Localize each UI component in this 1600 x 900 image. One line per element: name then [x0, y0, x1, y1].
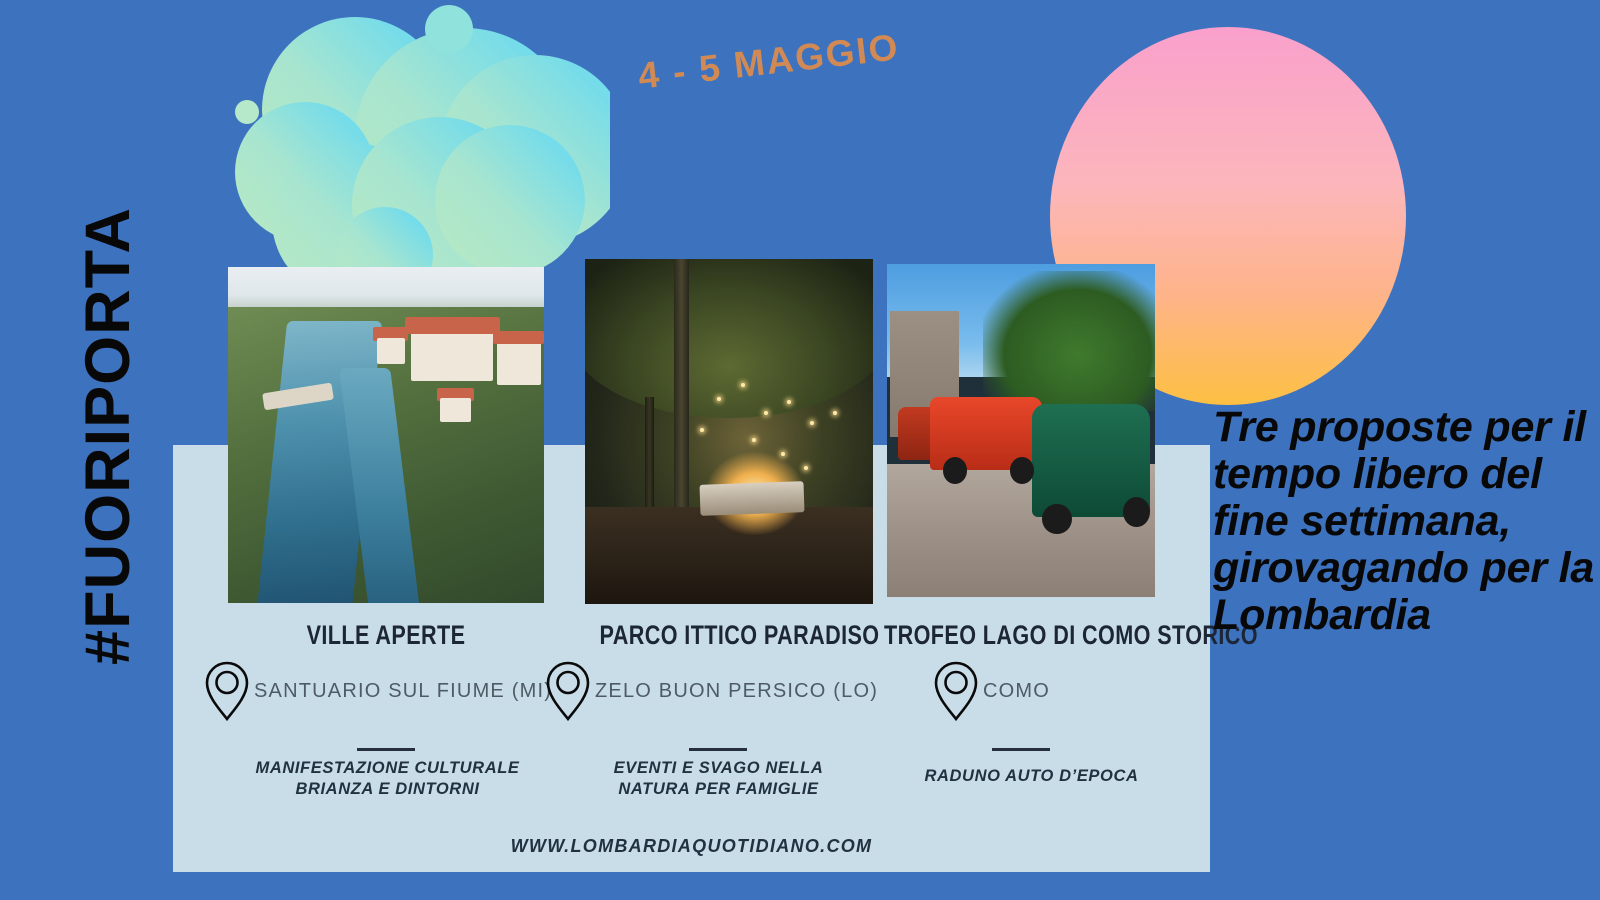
card-divider [992, 748, 1050, 751]
blob-decoration [210, 0, 610, 300]
card-location-label: SANTUARIO SUL FIUME (MI) [254, 680, 552, 703]
card-description-line1: RADUNO AUTO D’EPOCA [890, 766, 1173, 787]
card-location-label: COMO [983, 680, 1050, 703]
date-banner: 4 - 5 MAGGIO [636, 22, 939, 98]
location-pin-icon [929, 658, 983, 724]
card-photo-parco-ittico [585, 259, 873, 604]
hashtag-label: #FUORIPORTA [72, 206, 144, 666]
card-photo-ville-aperte [228, 267, 544, 603]
card-title: VILLE APERTE [274, 620, 498, 651]
card-location: ZELO BUON PERSICO (LO) [541, 658, 878, 724]
location-pin-icon [200, 658, 254, 724]
card-description-line1: EVENTI E SVAGO NELLA [577, 758, 860, 779]
card-description: MANIFESTAZIONE CULTURALE BRIANZA E DINTO… [246, 758, 529, 800]
card-description: EVENTI E SVAGO NELLA NATURA PER FAMIGLIE [577, 758, 860, 800]
card-description-line2: NATURA PER FAMIGLIE [577, 779, 860, 800]
card-location: SANTUARIO SUL FIUME (MI) [200, 658, 552, 724]
card-description-line1: MANIFESTAZIONE CULTURALE [246, 758, 529, 779]
poster-canvas: 4 - 5 MAGGIO #FUORIPORTA [0, 0, 1600, 900]
website-url[interactable]: WWW.LOMBARDIAQUOTIDIANO.COM [173, 836, 1210, 857]
card-title: TROFEO LAGO DI COMO STORICO [884, 620, 1196, 651]
location-pin-icon [541, 658, 595, 724]
headline-text: Tre proposte per il tempo libero del fin… [1213, 404, 1600, 639]
card-divider [357, 748, 415, 751]
card-description-line2: BRIANZA E DINTORNI [246, 779, 529, 800]
card-title: PARCO ITTICO PARADISO [600, 620, 860, 651]
blob-dot-small [235, 100, 259, 124]
blob-dot-large [425, 5, 473, 53]
card-divider [689, 748, 747, 751]
card-photo-trofeo-como [887, 264, 1155, 597]
card-location: COMO [929, 658, 1050, 724]
card-location-label: ZELO BUON PERSICO (LO) [595, 680, 878, 703]
card-description: RADUNO AUTO D’EPOCA [890, 766, 1173, 787]
